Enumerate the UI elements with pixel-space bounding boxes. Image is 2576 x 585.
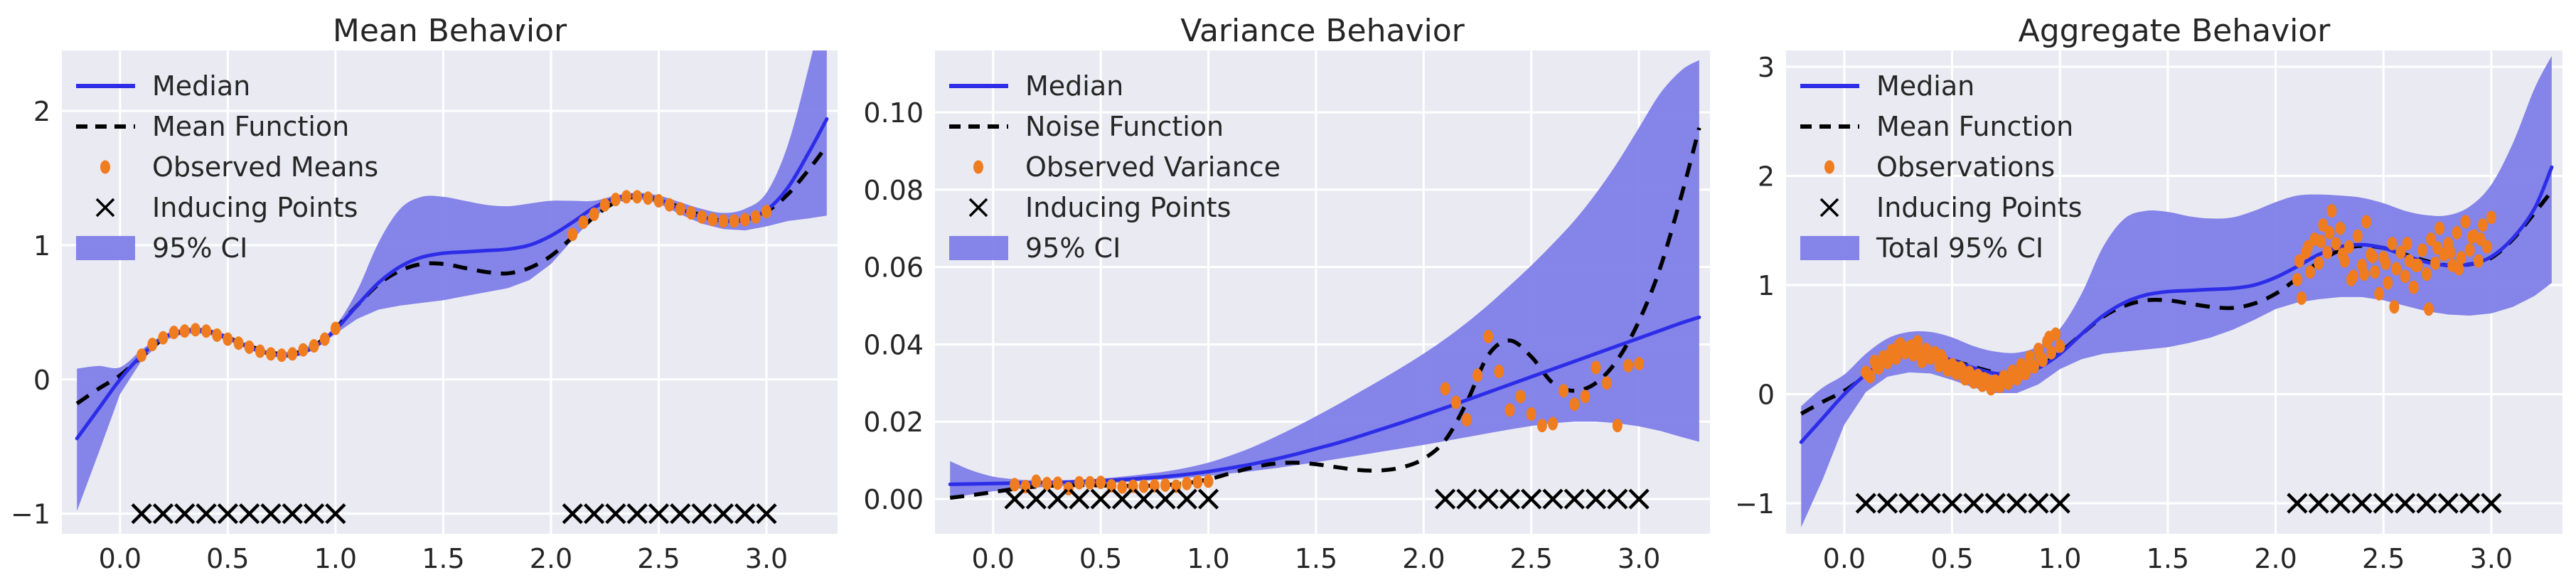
legend-label: Observations [1876, 151, 2055, 183]
observation-point [1971, 371, 1981, 385]
x-tick-label: 0.0 [1823, 543, 1866, 574]
observation-point [740, 213, 750, 227]
observation-point [1580, 390, 1590, 403]
observation-point [1871, 360, 1881, 374]
observation-point [2023, 361, 2033, 375]
observation-point [2303, 240, 2313, 254]
observation-point [1613, 419, 1623, 432]
x-tick-label: 2.0 [530, 543, 572, 574]
panel-title: Mean Behavior [333, 13, 567, 49]
observation-point [2476, 232, 2486, 246]
legend-label: Median [1025, 70, 1123, 102]
observation-point [1182, 477, 1192, 490]
observation-point [2486, 210, 2496, 224]
x-tick-label: 2.0 [2254, 543, 2297, 574]
observation-point [665, 198, 675, 212]
observation-point [147, 338, 157, 351]
observation-point [718, 214, 728, 227]
legend-label: Inducing Points [1025, 192, 1231, 223]
observation-point [1992, 377, 2002, 391]
panel-title: Aggregate Behavior [2019, 13, 2331, 49]
observation-point [2465, 243, 2475, 257]
observation-point [1473, 368, 1482, 382]
observation-point [2383, 276, 2393, 289]
chart-panel-2: Variance Behavior0.000.020.040.060.080.1… [859, 0, 1721, 585]
observation-point [1505, 403, 1514, 417]
x-tick-label: 2.0 [1402, 543, 1445, 574]
observation-point [2305, 265, 2315, 279]
observation-point [137, 348, 146, 362]
x-tick-label: 1.0 [314, 543, 357, 574]
y-tick-label: −1 [1735, 488, 1775, 520]
x-tick-label: 2.5 [1509, 543, 1552, 574]
observation-point [287, 347, 297, 360]
observation-point [180, 324, 190, 338]
observation-point [1979, 372, 1989, 386]
observation-point [2403, 237, 2412, 250]
observation-point [632, 190, 642, 203]
observation-point [2326, 204, 2336, 218]
x-tick-label: 3.0 [745, 543, 788, 574]
legend-label: Inducing Points [152, 192, 358, 223]
observation-point [245, 340, 255, 354]
legend-item[interactable]: Total 95% CI [1800, 232, 2043, 264]
observation-point [1548, 417, 1558, 430]
observation-point [2435, 222, 2444, 235]
observation-point [1537, 419, 1547, 432]
observation-point [589, 208, 599, 221]
legend-item[interactable]: 95% CI [949, 232, 1121, 264]
observation-point [2044, 331, 2054, 344]
legend-label: Median [152, 70, 250, 102]
y-tick-label: 1 [33, 230, 50, 262]
x-tick-label: 0.5 [1079, 543, 1122, 574]
x-tick-label: 0.5 [206, 543, 249, 574]
chart-panel-1: Mean Behavior−10120.00.51.01.52.02.53.0M… [0, 0, 859, 585]
legend-band-swatch [949, 236, 1008, 260]
observation-point [2474, 254, 2484, 268]
x-tick-label: 1.0 [1187, 543, 1229, 574]
observation-point [2055, 339, 2065, 353]
observation-point [2400, 269, 2410, 283]
legend-label: Mean Function [1876, 111, 2073, 142]
legend-dot-icon [1824, 161, 1834, 174]
observation-point [1527, 407, 1536, 421]
observation-point [2445, 245, 2455, 259]
y-tick-label: −1 [11, 499, 50, 530]
observation-point [729, 214, 739, 227]
legend-label: 95% CI [152, 232, 247, 264]
observation-point [1885, 348, 1895, 362]
y-axis-ticks: 0.000.020.040.060.080.10 [863, 97, 924, 515]
observation-point [2380, 257, 2390, 270]
observation-point [320, 333, 330, 346]
observation-point [2387, 237, 2397, 250]
observation-point [2411, 259, 2421, 272]
observation-point [2422, 267, 2432, 281]
observation-point [2417, 243, 2427, 257]
observation-point [1623, 359, 1633, 372]
observation-point [1204, 475, 1214, 488]
observation-point [1139, 480, 1149, 493]
x-tick-label: 1.5 [422, 543, 464, 574]
observation-point [201, 324, 211, 338]
observation-point [686, 206, 696, 220]
observation-point [761, 205, 771, 218]
y-tick-label: 0.04 [863, 329, 924, 360]
observation-point [2430, 257, 2440, 270]
observation-point [1893, 339, 1903, 353]
observation-point [2409, 281, 2419, 294]
observation-point [643, 191, 653, 205]
x-tick-label: 0.5 [1930, 543, 1973, 574]
observation-point [1074, 476, 1084, 490]
observation-point [2432, 241, 2442, 254]
observation-point [191, 323, 201, 336]
observation-point [277, 348, 287, 362]
x-tick-label: 0.0 [972, 543, 1015, 574]
observation-point [1928, 349, 1938, 363]
observation-point [2478, 218, 2488, 232]
y-tick-label: 0 [33, 365, 50, 396]
observation-point [1042, 477, 1052, 490]
legend-item[interactable]: 95% CI [76, 232, 247, 264]
observation-point [2001, 372, 2011, 386]
observation-point [2389, 300, 2399, 313]
observation-point [2361, 215, 2371, 228]
observation-point [1494, 365, 1504, 378]
observation-point [1053, 476, 1063, 490]
y-tick-label: 0.08 [863, 175, 924, 206]
observation-point [1462, 413, 1472, 426]
observation-point [234, 336, 244, 350]
observation-point [2370, 265, 2380, 279]
observation-point [1569, 397, 1579, 411]
observation-point [2391, 262, 2401, 275]
observation-point [1516, 390, 1526, 403]
observation-point [2292, 273, 2302, 286]
x-tick-label: 3.0 [2470, 543, 2513, 574]
legend-label: Inducing Points [1876, 192, 2082, 223]
legend-label: Median [1876, 70, 1974, 102]
observation-point [2322, 245, 2332, 259]
observation-point [223, 333, 233, 346]
chart-panel-3: Aggregate Behavior−101230.00.51.01.52.02… [1721, 0, 2576, 585]
x-tick-label: 1.5 [1295, 543, 1337, 574]
legend-band-swatch [76, 236, 135, 260]
legend-label: Observed Variance [1025, 151, 1281, 183]
observation-point [751, 210, 761, 224]
x-tick-label: 1.5 [2147, 543, 2189, 574]
observation-point [1031, 475, 1041, 488]
observation-point [2316, 235, 2326, 248]
observation-point [2046, 346, 2056, 360]
y-tick-label: 0.02 [863, 407, 924, 438]
y-tick-label: 2 [33, 96, 50, 127]
observation-point [2461, 215, 2471, 228]
x-axis-ticks: 0.00.51.01.52.02.53.0 [972, 543, 1661, 574]
observation-point [2336, 222, 2346, 235]
y-axis-ticks: −1012 [11, 96, 50, 530]
observation-point [212, 328, 222, 342]
y-tick-label: 2 [1758, 161, 1775, 193]
observation-point [255, 345, 265, 358]
observation-point [2331, 237, 2341, 250]
x-tick-label: 0.0 [99, 543, 141, 574]
x-axis-ticks: 0.00.51.01.52.02.53.0 [1823, 543, 2513, 574]
observation-point [2374, 287, 2384, 301]
observation-point [1451, 396, 1461, 409]
x-tick-label: 3.0 [1618, 543, 1660, 574]
y-tick-label: 0.00 [863, 484, 924, 515]
observation-point [2452, 226, 2462, 240]
x-tick-label: 1.0 [2038, 543, 2081, 574]
x-axis-ticks: 0.00.51.01.52.02.53.0 [99, 543, 789, 574]
y-tick-label: 3 [1758, 52, 1775, 83]
observation-point [567, 227, 577, 241]
observation-point [1483, 330, 1493, 343]
y-tick-label: 1 [1758, 270, 1775, 301]
observation-point [2297, 291, 2307, 305]
legend-label: Noise Function [1025, 111, 1224, 142]
legend-label: Observed Means [152, 151, 378, 183]
y-tick-label: 0.06 [863, 252, 924, 284]
observation-point [1906, 339, 1916, 353]
panel-title: Variance Behavior [1180, 13, 1465, 49]
observation-point [2036, 350, 2046, 364]
observation-point [1010, 478, 1020, 491]
observation-point [1117, 481, 1127, 494]
observation-point [697, 210, 707, 224]
observation-point [158, 331, 168, 345]
observation-point [600, 198, 610, 212]
observation-point [1160, 478, 1170, 492]
observation-point [2467, 230, 2477, 244]
observation-point [1559, 384, 1568, 397]
observation-point [298, 343, 308, 357]
observation-point [707, 213, 717, 227]
observation-point [309, 339, 319, 353]
legend-label: Mean Function [152, 111, 349, 142]
observation-point [1950, 360, 1960, 374]
observation-point [621, 190, 631, 203]
observation-point [2294, 254, 2304, 268]
observation-point [331, 322, 341, 336]
chart-svg: Variance Behavior0.000.020.040.060.080.1… [859, 0, 1721, 585]
legend-band-swatch [1800, 236, 1859, 260]
observation-point [1936, 349, 1946, 363]
figure-canvas: Mean Behavior−10120.00.51.01.52.02.53.0M… [0, 0, 2576, 585]
observation-point [578, 215, 588, 229]
x-tick-label: 2.5 [637, 543, 680, 574]
y-axis-ticks: −10123 [1735, 52, 1775, 520]
observation-point [2014, 367, 2024, 381]
observation-point [1602, 376, 1612, 390]
observation-point [2359, 267, 2369, 281]
observation-point [169, 326, 179, 339]
chart-svg: Aggregate Behavior−101230.00.51.01.52.02… [1721, 0, 2576, 585]
observation-point [1192, 476, 1202, 489]
observation-point [653, 194, 663, 208]
observation-point [1915, 346, 1925, 360]
chart-svg: Mean Behavior−10120.00.51.01.52.02.53.0M… [0, 0, 859, 585]
observation-point [1441, 382, 1450, 396]
observation-point [1096, 476, 1106, 489]
observation-point [2324, 226, 2334, 240]
observation-point [2454, 262, 2464, 275]
observation-point [611, 193, 621, 206]
legend-label: 95% CI [1025, 232, 1121, 264]
observation-point [2338, 248, 2348, 262]
observation-point [2346, 273, 2356, 286]
observation-point [675, 202, 685, 215]
legend-dot-icon [973, 161, 983, 174]
observation-point [1863, 367, 1873, 381]
observation-point [266, 347, 276, 360]
observation-point [2368, 250, 2378, 264]
legend-dot-icon [100, 161, 110, 174]
observation-point [1591, 361, 1601, 375]
y-tick-label: 0.10 [863, 97, 924, 129]
y-tick-label: 0 [1758, 380, 1775, 411]
x-tick-label: 2.5 [2362, 543, 2405, 574]
observation-point [1958, 365, 1968, 378]
observation-point [1085, 476, 1095, 490]
legend-label: Total 95% CI [1876, 232, 2043, 264]
observation-point [2314, 257, 2324, 270]
observation-point [2353, 229, 2363, 242]
observation-point [1634, 357, 1644, 370]
observation-point [2424, 302, 2434, 316]
